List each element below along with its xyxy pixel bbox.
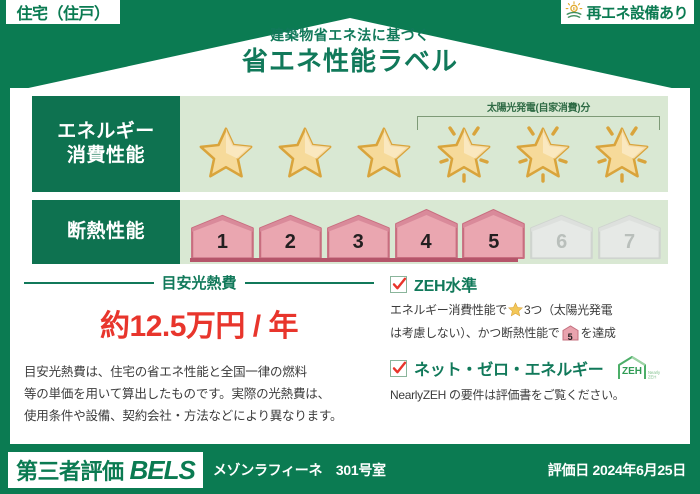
- house-grade-number: 3: [353, 232, 364, 260]
- insulation-grade-4: 4: [394, 208, 459, 260]
- net-zero-energy-item: ネット・ゼロ・エネルギー ZEH Nearly ZEH NearlyZEH の要…: [390, 355, 672, 405]
- insulation-performance-label-box: 断熱性能: [32, 200, 180, 264]
- renewable-tag-label: 再エネ設備あり: [586, 2, 688, 23]
- utility-cost-block: 目安光熱費 約12.5万円 / 年 目安光熱費は、住宅の省エネ性能と全国一律の燃…: [24, 272, 374, 427]
- zeh-standard-title: ZEH水準: [414, 272, 477, 296]
- zeh-desc-part-c: を達成: [581, 326, 616, 340]
- evaluation-date: 評価日 2024年6月25日: [548, 460, 686, 480]
- solar-bracket-label: 太陽光発電(自家消費)分: [417, 99, 660, 114]
- category-tag-label: 住宅（住戸）: [16, 0, 109, 24]
- zeh-standard-description: エネルギー消費性能で3つ（太陽光発電 は考慮しない）、かつ断熱性能で5を達成: [390, 300, 672, 343]
- zeh-desc-star-count: 3つ（太陽光発電: [524, 303, 612, 317]
- insulation-grades-panel: 1234567: [180, 200, 668, 264]
- insulation-grade-3: 3: [326, 214, 391, 260]
- house-shape: 2: [258, 214, 323, 260]
- insulation-baseline: [190, 258, 518, 262]
- insulation-performance-row: 断熱性能 1234567: [32, 200, 668, 264]
- star-icon: [348, 117, 424, 189]
- energy-stars-panel: 太陽光発電(自家消費)分: [180, 96, 668, 192]
- star-icon: [269, 117, 345, 189]
- heading-rule-right: [245, 282, 375, 284]
- net-zero-energy-heading: ネット・ゼロ・エネルギー ZEH Nearly ZEH: [390, 355, 672, 381]
- check-icon: [390, 360, 407, 377]
- energy-performance-row: エネルギー 消費性能 太陽光発電(自家消費)分: [32, 96, 668, 192]
- insulation-grade-5: 5: [461, 208, 526, 260]
- house-shape: 1: [190, 214, 255, 260]
- insulation-grade-strip: 1234567: [190, 206, 662, 260]
- energy-label-line1: エネルギー: [57, 120, 155, 144]
- utility-cost-heading: 目安光熱費: [24, 272, 374, 293]
- house-shape: 6: [529, 214, 594, 260]
- insulation-grade-2: 2: [258, 214, 323, 260]
- zeh-desc-part-a: エネルギー消費性能で: [390, 303, 507, 317]
- inline-star-icon: [508, 306, 523, 320]
- sun-solar-icon: E: [565, 1, 583, 23]
- zeh-block: ZEH水準 エネルギー消費性能で3つ（太陽光発電 は考慮しない）、かつ断熱性能で…: [390, 272, 672, 417]
- footer-bar: 第三者評価 BELS メゾンラフィーネ 301号室 評価日 2024年6月25日: [0, 446, 700, 494]
- house-grade-number: 5: [488, 232, 499, 260]
- solar-bracket: [417, 116, 660, 130]
- heading-rule-left: [24, 282, 154, 284]
- insulation-grade-1: 1: [190, 214, 255, 260]
- house-grade-number: 2: [285, 232, 296, 260]
- energy-label-line2: 消費性能: [67, 144, 145, 168]
- zeh-standard-heading: ZEH水準: [390, 272, 672, 296]
- house-shape: 3: [326, 214, 391, 260]
- page-title: 建築物省エネ法に基づく 省エネ性能ラベル: [0, 26, 700, 77]
- house-shape: 7: [597, 214, 662, 260]
- insulation-grade-7: 7: [597, 214, 662, 260]
- utility-cost-heading-text: 目安光熱費: [162, 272, 237, 293]
- bels-plate: 第三者評価 BELS: [8, 452, 203, 488]
- check-icon: [390, 276, 407, 293]
- property-name: メゾンラフィーネ 301号室: [213, 460, 386, 480]
- title-main: 省エネ性能ラベル: [0, 45, 700, 77]
- inline-house-grade-icon: 5: [562, 325, 579, 341]
- house-grade-number: 6: [556, 232, 567, 260]
- house-shape: 5: [461, 208, 526, 260]
- house-grade-number: 1: [217, 232, 228, 260]
- house-shape: 4: [394, 208, 459, 260]
- cost-note-line-2: 等の単価を用いて算出したものです。実際の光熱費は、: [24, 383, 374, 405]
- star-icon: [190, 117, 266, 189]
- energy-performance-label-box: エネルギー 消費性能: [32, 96, 180, 192]
- inline-house-number: 5: [562, 327, 579, 347]
- energy-performance-label: 住宅（住戸） E 再エネ設備あり 建築物省エネ法に基づく: [0, 0, 700, 494]
- house-grade-number: 7: [624, 232, 635, 260]
- utility-cost-value: 約12.5万円 / 年: [24, 301, 374, 345]
- bels-en-label: BELS: [130, 455, 195, 486]
- renewable-equipment-tag: E 再エネ設備あり: [561, 0, 694, 24]
- utility-cost-note: 目安光熱費は、住宅の省エネ性能と全国一律の燃料 等の単価を用いて算出したものです…: [24, 361, 374, 427]
- zeh-standard-item: ZEH水準 エネルギー消費性能で3つ（太陽光発電 は考慮しない）、かつ断熱性能で…: [390, 272, 672, 343]
- net-zero-energy-title: ネット・ゼロ・エネルギー: [414, 356, 604, 380]
- house-grade-number: 4: [420, 232, 431, 260]
- zeh-desc-part-b: は考慮しない）、かつ断熱性能で: [390, 326, 560, 340]
- insulation-label: 断熱性能: [67, 220, 145, 244]
- title-subtitle: 建築物省エネ法に基づく: [0, 26, 700, 44]
- bels-jp-label: 第三者評価: [16, 454, 124, 486]
- cost-note-line-1: 目安光熱費は、住宅の省エネ性能と全国一律の燃料: [24, 361, 374, 383]
- cost-note-line-3: 使用条件や設備、契約会社・方法などにより異なります。: [24, 405, 374, 427]
- insulation-grade-6: 6: [529, 214, 594, 260]
- svg-text:ZEH: ZEH: [648, 375, 656, 380]
- svg-text:ZEH: ZEH: [622, 366, 642, 377]
- net-zero-energy-description: NearlyZEH の要件は評価書をご覧ください。: [390, 385, 672, 405]
- category-tag-housing: 住宅（住戸）: [6, 0, 120, 24]
- zeh-house-logo-icon: ZEH Nearly ZEH: [617, 355, 661, 381]
